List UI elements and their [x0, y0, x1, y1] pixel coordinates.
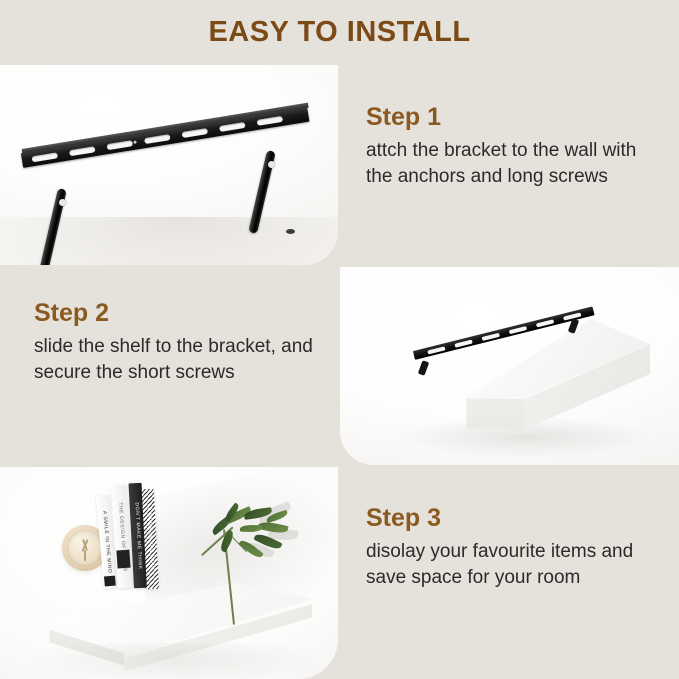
clock-face	[67, 530, 103, 566]
step-1-text: Step 1 attch the bracket to the wall wit…	[366, 104, 666, 191]
step-2-description: slide the shelf to the bracket, and secu…	[34, 334, 324, 388]
step-3-title: Step 3	[366, 505, 671, 533]
infographic-page: EASY TO INSTALL	[0, 0, 679, 679]
bracket-bar	[413, 306, 595, 359]
olive-leaf	[257, 520, 288, 535]
step-3-props-layer: A SMILE IN THE MIND THE DESIGN OF BOOKS …	[0, 467, 338, 679]
olive-leaf	[240, 525, 262, 533]
step-1-image-panel	[0, 65, 338, 265]
step-1-title: Step 1	[366, 104, 666, 132]
step-3-text: Step 3 disolay your favourite items and …	[366, 505, 671, 592]
bracket-slot	[536, 319, 554, 327]
clock-hand-second	[84, 550, 86, 561]
bracket-slot	[144, 134, 171, 144]
bracket-screw-boss-right	[268, 161, 275, 168]
bracket-pilot-hole	[133, 140, 136, 143]
step-2-image-panel	[340, 267, 679, 465]
bracket-screw-boss-left	[59, 199, 66, 206]
bracket-slot	[256, 115, 283, 125]
page-title: EASY TO INSTALL	[0, 16, 679, 49]
bracket-slot	[219, 121, 246, 131]
step-1-description: attch the bracket to the wall with the a…	[366, 138, 666, 192]
bracket-slot	[31, 152, 58, 162]
bracket-slot	[181, 127, 208, 137]
olive-leaf	[218, 529, 235, 552]
step-3-description: disolay your favourite items and save sp…	[366, 539, 671, 593]
bracket-slot	[481, 332, 499, 340]
olive-branch	[214, 507, 334, 627]
bracket-slot	[427, 346, 445, 354]
step-2-text: Step 2 slide the shelf to the bracket, a…	[34, 300, 324, 387]
book-spine-band	[116, 550, 130, 569]
bracket-slot	[106, 140, 133, 150]
wall-bracket-illustration	[18, 123, 324, 253]
bracket-slot	[509, 325, 527, 333]
bracket-slot	[454, 339, 472, 347]
bracket-slot	[69, 146, 96, 156]
bracket-rod-cap-right	[286, 229, 295, 234]
step-2-title: Step 2	[34, 300, 324, 328]
bracket-on-shelf	[392, 315, 592, 361]
book-spine-footer	[104, 576, 116, 587]
